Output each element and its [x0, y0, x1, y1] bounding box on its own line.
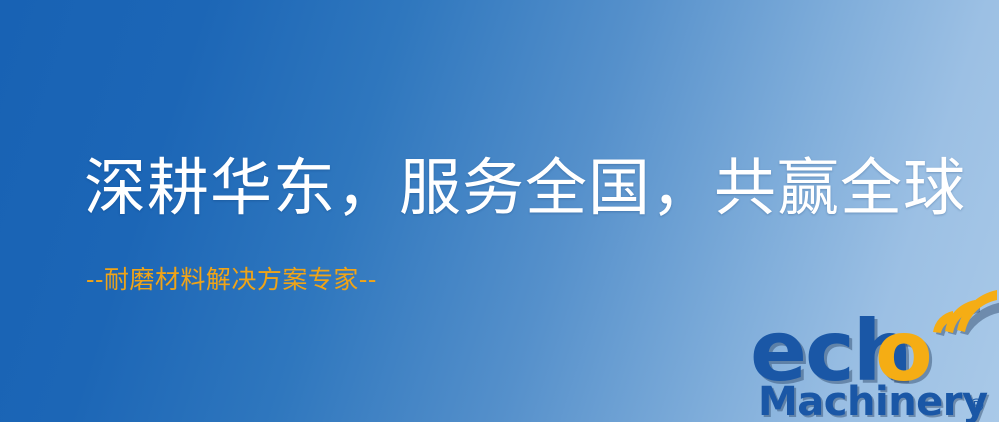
page-title: 深耕华东，服务全国，共赢全球: [84, 152, 966, 224]
brand-logo-svg: ech o ech o Machinery Machinery ®: [740, 288, 999, 422]
logo-registered-mark: ®: [967, 395, 986, 417]
page-subtitle: --耐磨材料解决方案专家--: [86, 264, 377, 296]
brand-logo: ech o ech o Machinery Machinery ®: [740, 288, 999, 422]
promo-banner: 深耕华东，服务全国，共赢全球 --耐磨材料解决方案专家-- ech o ech …: [0, 0, 999, 422]
logo-machinery-text: Machinery: [758, 379, 988, 422]
